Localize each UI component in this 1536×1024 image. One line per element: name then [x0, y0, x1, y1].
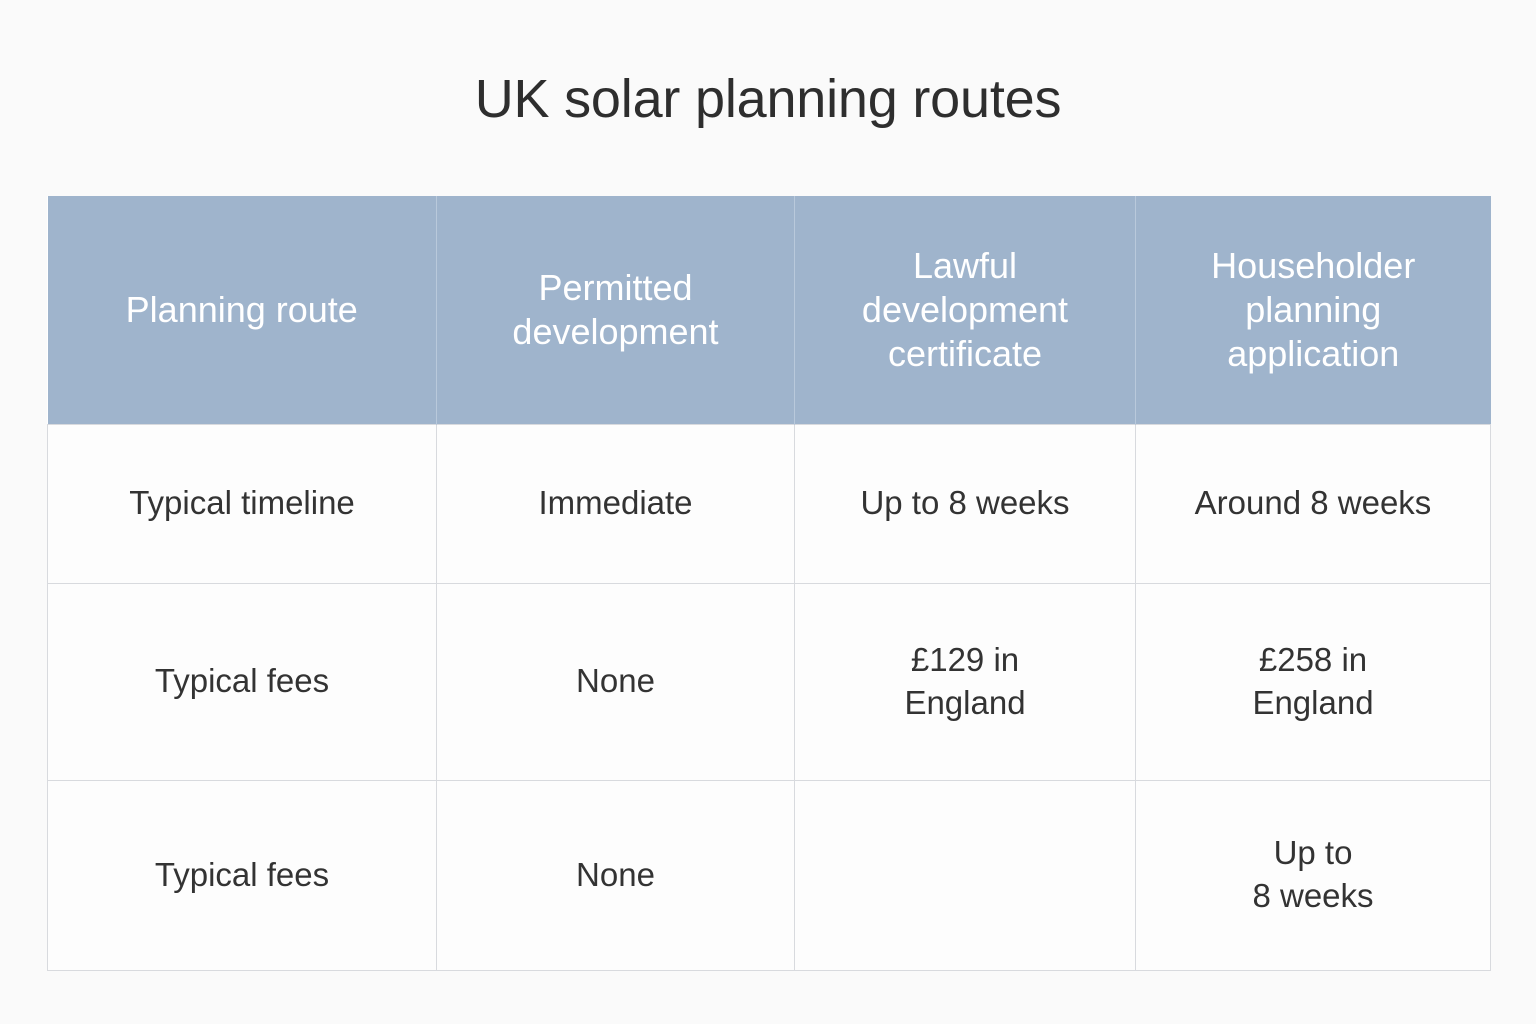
cell-fees-secondary-householder-planning-application: Up to 8 weeks: [1136, 780, 1491, 970]
uk-solar-planning-routes-table: Planning route Permitted development Law…: [47, 196, 1491, 971]
page-title: UK solar planning routes: [0, 68, 1536, 130]
table-header-row: Planning route Permitted development Law…: [48, 196, 1491, 424]
cell-timeline-lawful-development-certificate: Up to 8 weeks: [795, 424, 1136, 583]
cell-line: England: [1150, 682, 1476, 725]
header-line: application: [1150, 332, 1477, 376]
table-row: Typical timeline Immediate Up to 8 weeks…: [48, 424, 1491, 583]
cell-line: Typical timeline: [62, 482, 422, 525]
column-header-lawful-development-certificate: Lawful development certificate: [795, 196, 1136, 424]
cell-line: None: [451, 660, 780, 703]
header-line: development: [809, 288, 1121, 332]
column-header-planning-route: Planning route: [48, 196, 437, 424]
cell-line: £129 in: [809, 639, 1121, 682]
table-row: Typical fees None Up to 8 weeks: [48, 780, 1491, 970]
table-body: Typical timeline Immediate Up to 8 weeks…: [48, 424, 1491, 970]
header-line: Lawful: [809, 244, 1121, 288]
row-label-typical-fees: Typical fees: [48, 583, 437, 780]
cell-fees-permitted-development: None: [437, 583, 795, 780]
header-line: planning: [1150, 288, 1477, 332]
cell-line: 8 weeks: [1150, 875, 1476, 918]
table-container: Planning route Permitted development Law…: [47, 196, 1490, 971]
cell-line: Up to 8 weeks: [809, 482, 1121, 525]
cell-fees-secondary-lawful-development-certificate: [795, 780, 1136, 970]
cell-fees-householder-planning-application: £258 in England: [1136, 583, 1491, 780]
header-line: Householder: [1150, 244, 1477, 288]
cell-fees-lawful-development-certificate: £129 in England: [795, 583, 1136, 780]
row-label-typical-fees-secondary: Typical fees: [48, 780, 437, 970]
document-page: UK solar planning routes Planning route …: [0, 0, 1536, 1024]
cell-fees-secondary-permitted-development: None: [437, 780, 795, 970]
cell-line: England: [809, 682, 1121, 725]
column-header-permitted-development: Permitted development: [437, 196, 795, 424]
header-line: development: [451, 310, 780, 354]
cell-line: Immediate: [451, 482, 780, 525]
header-line: Permitted: [451, 266, 780, 310]
header-line: certificate: [809, 332, 1121, 376]
cell-line: Typical fees: [62, 660, 422, 703]
cell-line: None: [451, 854, 780, 897]
cell-line: £258 in: [1150, 639, 1476, 682]
table-header: Planning route Permitted development Law…: [48, 196, 1491, 424]
cell-line: Around 8 weeks: [1150, 482, 1476, 525]
table-row: Typical fees None £129 in England £258 i…: [48, 583, 1491, 780]
cell-timeline-householder-planning-application: Around 8 weeks: [1136, 424, 1491, 583]
header-line: Planning route: [62, 288, 423, 332]
cell-timeline-permitted-development: Immediate: [437, 424, 795, 583]
row-label-typical-timeline: Typical timeline: [48, 424, 437, 583]
cell-line: Up to: [1150, 832, 1476, 875]
cell-line: Typical fees: [62, 854, 422, 897]
column-header-householder-planning-application: Householder planning application: [1136, 196, 1491, 424]
